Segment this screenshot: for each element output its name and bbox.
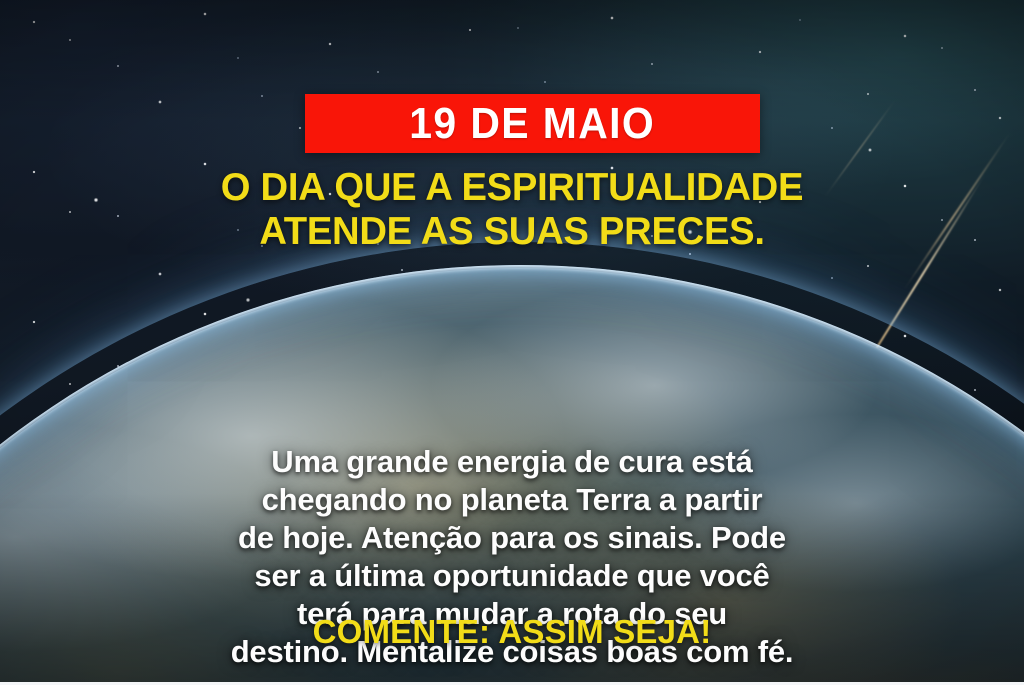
date-banner: 19 DE MAIO <box>305 94 760 153</box>
call-to-action-text: COMENTE: ASSIM SEJA! <box>0 615 1024 648</box>
social-media-poster: 19 DE MAIO O DIA QUE A ESPIRITUALIDADE A… <box>0 0 1024 685</box>
headline-line-2: ATENDE AS SUAS PRECES. <box>10 210 1014 254</box>
poster-content: 19 DE MAIO O DIA QUE A ESPIRITUALIDADE A… <box>0 0 1024 685</box>
date-banner-label: 19 DE MAIO <box>410 102 656 146</box>
body-line-1: Uma grande energia de cura está <box>44 443 980 481</box>
headline: O DIA QUE A ESPIRITUALIDADE ATENDE AS SU… <box>10 166 1014 253</box>
body-line-2: chegando no planeta Terra a partir <box>44 481 980 519</box>
body-line-3: de hoje. Atenção para os sinais. Pode <box>44 519 980 557</box>
body-line-4: ser a última oportunidade que você <box>44 557 980 595</box>
headline-line-1: O DIA QUE A ESPIRITUALIDADE <box>10 166 1014 210</box>
